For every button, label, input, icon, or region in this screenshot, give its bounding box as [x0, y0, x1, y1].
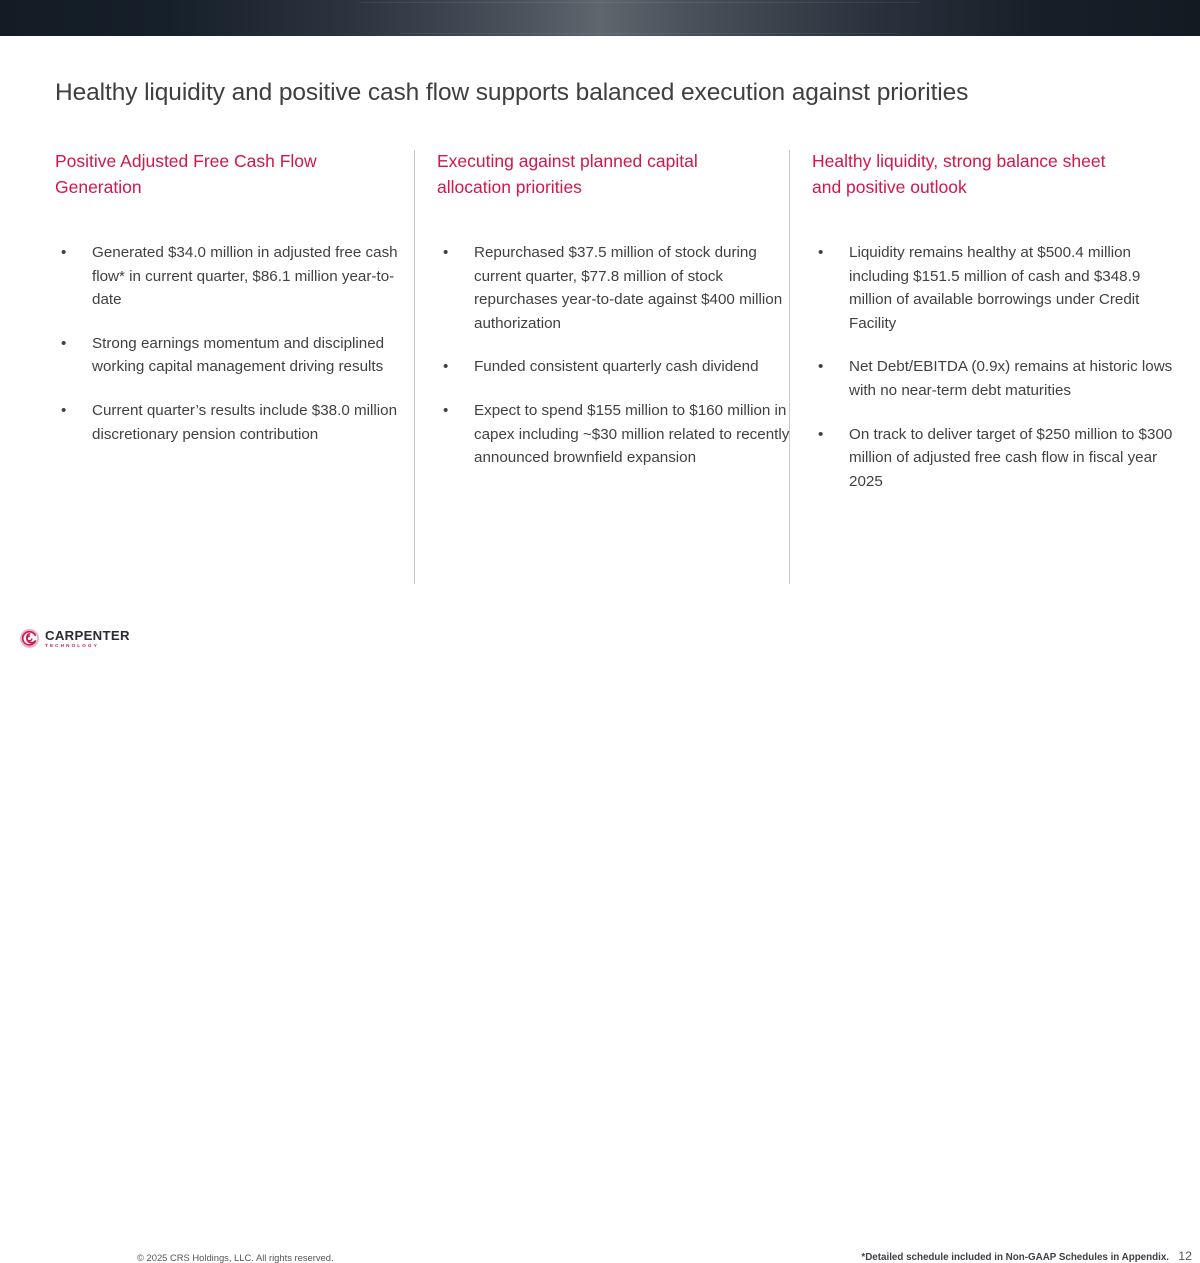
list-item: • Liquidity remains healthy at $500.4 mi…: [812, 241, 1179, 335]
list-item: • On track to deliver target of $250 mil…: [812, 423, 1179, 494]
footnote-text: *Detailed schedule included in Non-GAAP …: [861, 1252, 1169, 1263]
carpenter-swirl-icon: [20, 629, 39, 648]
slide-footer: CARPENTER TECHNOLOGY © 2025 CRS Holdings…: [0, 618, 1200, 675]
banner-hairline-top: [360, 2, 920, 3]
list-item-text: Liquidity remains healthy at $500.4 mill…: [849, 244, 1140, 332]
list-item: • Funded consistent quarterly cash divid…: [437, 355, 804, 379]
bullet-marker-icon: •: [61, 332, 66, 356]
logo-wordmark: CARPENTER TECHNOLOGY: [45, 629, 130, 649]
bullet-marker-icon: •: [443, 355, 448, 379]
column-heading: Executing against planned capital alloca…: [437, 148, 757, 200]
column-capital-allocation-priorities: Executing against planned capital alloca…: [437, 148, 777, 490]
bullet-marker-icon: •: [818, 355, 823, 379]
list-item-text: Net Debt/EBITDA (0.9x) remains at histor…: [849, 358, 1172, 399]
list-item-text: On track to deliver target of $250 milli…: [849, 426, 1172, 490]
bullet-marker-icon: •: [61, 399, 66, 423]
column-healthy-liquidity-balance-sheet: Healthy liquidity, strong balance sheet …: [812, 148, 1152, 513]
bullet-marker-icon: •: [61, 241, 66, 265]
banner-hairline-bottom: [400, 33, 900, 34]
list-item-text: Repurchased $37.5 million of stock durin…: [474, 244, 782, 332]
list-item-text: Current quarter’s results include $38.0 …: [92, 402, 397, 443]
bullet-marker-icon: •: [818, 423, 823, 447]
bullet-marker-icon: •: [443, 399, 448, 423]
bullet-marker-icon: •: [818, 241, 823, 265]
list-item: • Current quarter’s results include $38.…: [55, 399, 417, 446]
page-number: 12: [1178, 1249, 1192, 1263]
list-item-text: Strong earnings momentum and disciplined…: [92, 335, 384, 376]
list-item-text: Funded consistent quarterly cash dividen…: [474, 358, 759, 375]
bullet-list: • Liquidity remains healthy at $500.4 mi…: [812, 241, 1152, 493]
copyright-text: © 2025 CRS Holdings, LLC. All rights res…: [137, 1252, 334, 1263]
list-item-text: Generated $34.0 million in adjusted free…: [92, 244, 398, 308]
column-heading: Positive Adjusted Free Cash Flow Generat…: [55, 148, 375, 200]
carpenter-technology-logo: CARPENTER TECHNOLOGY: [20, 629, 130, 649]
list-item: • Strong earnings momentum and disciplin…: [55, 332, 417, 379]
bullet-list: • Generated $34.0 million in adjusted fr…: [55, 241, 395, 446]
bullet-list: • Repurchased $37.5 million of stock dur…: [437, 241, 777, 470]
list-item-text: Expect to spend $155 million to $160 mil…: [474, 402, 789, 466]
content-columns: Positive Adjusted Free Cash Flow Generat…: [0, 148, 1200, 588]
list-item: • Net Debt/EBITDA (0.9x) remains at hist…: [812, 355, 1179, 402]
column-positive-adjusted-free-cash-flow: Positive Adjusted Free Cash Flow Generat…: [55, 148, 395, 466]
logo-name: CARPENTER: [45, 629, 130, 642]
logo-subtitle: TECHNOLOGY: [45, 644, 130, 649]
slide-title: Healthy liquidity and positive cash flow…: [55, 79, 1145, 107]
column-heading: Healthy liquidity, strong balance sheet …: [812, 148, 1132, 200]
top-banner: [0, 0, 1200, 36]
list-item: • Expect to spend $155 million to $160 m…: [437, 399, 804, 470]
list-item: • Repurchased $37.5 million of stock dur…: [437, 241, 804, 335]
bullet-marker-icon: •: [443, 241, 448, 265]
list-item: • Generated $34.0 million in adjusted fr…: [55, 241, 417, 312]
